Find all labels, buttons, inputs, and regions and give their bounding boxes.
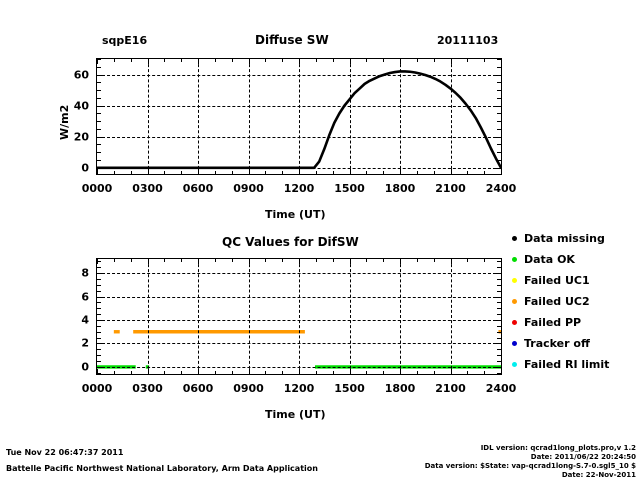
legend-item-data-ok: Data OK	[512, 249, 638, 270]
footer-idl-date: Date: 2011/06/22 20:24:50	[531, 453, 636, 461]
footer-organization: Battelle Pacific Northwest National Labo…	[6, 464, 318, 473]
legend-item-label: Failed UC2	[524, 295, 590, 308]
axis-tick-minor	[484, 171, 485, 174]
axis-tick-minor	[333, 59, 334, 62]
x-tick-label: 1500	[334, 382, 365, 395]
axis-tick-minor	[366, 171, 367, 174]
axis-tick-minor	[232, 371, 233, 374]
footer-data-date: Date: 22-Nov-2011	[562, 471, 636, 479]
axis-tick-minor	[97, 144, 101, 145]
footer-data-version: Data version: $State: vap-qcrad1long-S.7…	[425, 462, 636, 470]
legend-item-label: Tracker off	[524, 337, 590, 350]
gridline-vertical	[249, 259, 250, 374]
axis-tick-minor	[497, 373, 501, 374]
axis-tick-minor	[97, 90, 101, 91]
axis-tick	[249, 59, 250, 64]
axis-tick-minor	[164, 371, 165, 374]
axis-tick-minor	[97, 291, 101, 292]
gridline-vertical	[451, 259, 452, 374]
legend-item-failed-uc2: Failed UC2	[512, 291, 638, 312]
axis-tick	[148, 59, 149, 64]
x-tick-label: 2400	[486, 382, 517, 395]
x-tick-label: 0000	[82, 382, 113, 395]
legend-item-failed-pp: Failed PP	[512, 312, 638, 333]
gridline-horizontal	[97, 75, 501, 76]
axis-tick	[97, 273, 103, 274]
axis-tick	[495, 106, 501, 107]
axis-tick	[249, 169, 250, 174]
axis-tick	[97, 297, 103, 298]
gridline-horizontal	[97, 320, 501, 321]
footer-timestamp: Tue Nov 22 06:47:37 2011	[6, 448, 123, 457]
axis-tick	[495, 320, 501, 321]
axis-tick-minor	[417, 59, 418, 62]
legend-marker-icon	[512, 278, 517, 283]
axis-tick-minor	[97, 82, 101, 83]
axis-tick-minor	[215, 371, 216, 374]
axis-tick-minor	[497, 121, 501, 122]
axis-tick-minor	[434, 371, 435, 374]
axis-tick	[198, 369, 199, 374]
axis-tick-minor	[497, 98, 501, 99]
axis-tick-minor	[215, 59, 216, 62]
y-tick-label: 4	[56, 314, 89, 327]
axis-tick-minor	[316, 171, 317, 174]
axis-tick-minor	[164, 171, 165, 174]
axis-tick-minor	[181, 59, 182, 62]
axis-tick-minor	[97, 113, 101, 114]
top-ylabel: W/m2	[58, 105, 71, 140]
footer-idl-version: IDL version: qcrad1long_plots.pro,v 1.2	[481, 444, 636, 452]
axis-tick	[148, 259, 149, 264]
axis-tick	[97, 343, 103, 344]
axis-tick-minor	[97, 373, 101, 374]
axis-tick-minor	[164, 259, 165, 262]
axis-tick	[451, 369, 452, 374]
axis-tick-minor	[434, 171, 435, 174]
date-code-label: 20111103	[437, 35, 498, 46]
gridline-horizontal	[97, 168, 501, 169]
axis-tick-minor	[497, 308, 501, 309]
legend-marker-icon	[512, 257, 517, 262]
axis-tick-minor	[97, 160, 101, 161]
axis-tick-minor	[497, 291, 501, 292]
axis-tick-minor	[497, 144, 501, 145]
axis-tick	[400, 259, 401, 264]
axis-tick-minor	[366, 259, 367, 262]
gridline-horizontal	[97, 297, 501, 298]
legend-marker-icon	[512, 236, 517, 241]
axis-tick-minor	[497, 152, 501, 153]
axis-tick-minor	[497, 285, 501, 286]
axis-tick	[299, 169, 300, 174]
axis-tick-minor	[97, 152, 101, 153]
legend-marker-icon	[512, 320, 517, 325]
y-tick-label: 0	[56, 360, 89, 373]
axis-tick-minor	[497, 279, 501, 280]
axis-tick-minor	[333, 171, 334, 174]
gridline-vertical	[400, 59, 401, 174]
gridline-vertical	[350, 59, 351, 174]
qc-legend: Data missingData OKFailed UC1Failed UC2F…	[512, 228, 638, 375]
axis-tick	[97, 137, 103, 138]
axis-tick-minor	[282, 259, 283, 262]
x-tick-label: 0000	[82, 182, 113, 195]
axis-tick	[400, 59, 401, 64]
qc-plot-title: QC Values for DifSW	[222, 235, 359, 249]
axis-tick	[350, 369, 351, 374]
axis-tick-minor	[467, 59, 468, 62]
axis-tick-minor	[497, 302, 501, 303]
axis-tick-minor	[497, 113, 501, 114]
top-xlabel: Time (UT)	[265, 208, 326, 221]
axis-tick-minor	[484, 259, 485, 262]
legend-item-label: Failed RI limit	[524, 358, 609, 371]
axis-tick-minor	[97, 129, 101, 130]
axis-tick	[198, 259, 199, 264]
legend-item-failed-ri-limit: Failed RI limit	[512, 354, 638, 375]
axis-tick-minor	[497, 361, 501, 362]
axis-tick	[495, 273, 501, 274]
top-plot-title: Diffuse SW	[255, 33, 329, 47]
axis-tick	[97, 367, 103, 368]
legend-item-label: Failed PP	[524, 316, 581, 329]
axis-tick-minor	[467, 259, 468, 262]
axis-tick-minor	[497, 267, 501, 268]
axis-tick-minor	[97, 285, 101, 286]
x-tick-label: 2100	[435, 382, 466, 395]
x-tick-label: 2400	[486, 182, 517, 195]
gridline-horizontal	[97, 367, 501, 368]
axis-tick-minor	[131, 171, 132, 174]
axis-tick-minor	[316, 259, 317, 262]
axis-tick-minor	[97, 349, 101, 350]
axis-tick-minor	[97, 326, 101, 327]
legend-item-label: Failed UC1	[524, 274, 590, 287]
axis-tick-minor	[316, 371, 317, 374]
x-tick-label: 0900	[233, 182, 264, 195]
x-tick-label: 1800	[385, 382, 416, 395]
axis-tick	[400, 369, 401, 374]
diffuse-sw-plot-area	[97, 59, 501, 174]
axis-tick-minor	[97, 261, 101, 262]
axis-tick-minor	[417, 371, 418, 374]
axis-tick-minor	[417, 259, 418, 262]
axis-tick	[451, 59, 452, 64]
axis-tick-minor	[97, 98, 101, 99]
gridline-vertical	[299, 259, 300, 374]
axis-tick	[97, 75, 103, 76]
axis-tick-minor	[97, 267, 101, 268]
x-tick-label: 0600	[183, 182, 214, 195]
axis-tick-minor	[497, 326, 501, 327]
x-tick-label: 0600	[183, 382, 214, 395]
axis-tick	[97, 106, 103, 107]
axis-tick-minor	[265, 171, 266, 174]
axis-tick-minor	[497, 355, 501, 356]
gridline-horizontal	[97, 343, 501, 344]
legend-marker-icon	[512, 341, 517, 346]
axis-tick-minor	[265, 59, 266, 62]
x-tick-label: 1200	[284, 382, 315, 395]
gridline-vertical	[299, 59, 300, 174]
axis-tick	[299, 59, 300, 64]
axis-tick-minor	[232, 171, 233, 174]
axis-tick-minor	[366, 371, 367, 374]
x-tick-label: 0300	[132, 382, 163, 395]
axis-tick-minor	[97, 361, 101, 362]
axis-tick-minor	[434, 259, 435, 262]
axis-tick-minor	[417, 171, 418, 174]
axis-tick	[97, 320, 103, 321]
axis-tick-minor	[282, 59, 283, 62]
axis-tick-minor	[97, 59, 101, 60]
legend-item-label: Data OK	[524, 253, 575, 266]
x-tick-label: 0900	[233, 382, 264, 395]
axis-tick-minor	[383, 171, 384, 174]
axis-tick-minor	[316, 59, 317, 62]
legend-marker-icon	[512, 299, 517, 304]
x-tick-label: 1200	[284, 182, 315, 195]
diffuse-sw-plot	[96, 58, 502, 175]
legend-marker-icon	[512, 362, 517, 367]
axis-tick-minor	[131, 59, 132, 62]
y-tick-label: 60	[56, 68, 89, 81]
x-tick-label: 2100	[435, 182, 466, 195]
gridline-vertical	[350, 259, 351, 374]
gridline-vertical	[451, 59, 452, 174]
axis-tick-minor	[97, 355, 101, 356]
axis-tick	[495, 297, 501, 298]
axis-tick	[350, 59, 351, 64]
y-tick-label: 8	[56, 267, 89, 280]
legend-item-label: Data missing	[524, 232, 605, 245]
axis-tick-minor	[282, 171, 283, 174]
axis-tick-minor	[215, 171, 216, 174]
legend-item-tracker-off: Tracker off	[512, 333, 638, 354]
axis-tick-minor	[497, 332, 501, 333]
axis-tick	[97, 168, 103, 169]
qc-values-plot	[96, 258, 502, 375]
axis-tick	[249, 259, 250, 264]
axis-tick-minor	[467, 171, 468, 174]
gridline-vertical	[148, 259, 149, 374]
legend-item-failed-uc1: Failed UC1	[512, 270, 638, 291]
qc-xlabel: Time (UT)	[265, 408, 326, 421]
axis-tick	[97, 169, 98, 174]
axis-tick-minor	[282, 371, 283, 374]
x-tick-label: 1800	[385, 182, 416, 195]
axis-tick-minor	[484, 59, 485, 62]
gridline-vertical	[148, 59, 149, 174]
axis-tick	[451, 259, 452, 264]
axis-tick	[495, 343, 501, 344]
plot-page: sqpE16 Diffuse SW 20111103 0000030006000…	[0, 0, 640, 480]
axis-tick-minor	[181, 371, 182, 374]
axis-tick	[400, 169, 401, 174]
axis-tick-minor	[265, 259, 266, 262]
axis-tick	[495, 168, 501, 169]
axis-tick	[148, 369, 149, 374]
axis-tick	[350, 169, 351, 174]
axis-tick-minor	[497, 261, 501, 262]
axis-tick-minor	[497, 67, 501, 68]
axis-tick-minor	[97, 308, 101, 309]
axis-tick	[495, 75, 501, 76]
y-tick-label: 2	[56, 337, 89, 350]
axis-tick-minor	[497, 338, 501, 339]
axis-tick-minor	[97, 67, 101, 68]
site-id-label: sqpE16	[102, 35, 147, 46]
axis-tick-minor	[497, 160, 501, 161]
axis-tick-minor	[97, 314, 101, 315]
axis-tick-minor	[497, 314, 501, 315]
axis-tick-minor	[383, 59, 384, 62]
axis-tick-minor	[366, 59, 367, 62]
gridline-horizontal	[97, 273, 501, 274]
axis-tick-minor	[383, 259, 384, 262]
gridline-vertical	[198, 259, 199, 374]
axis-tick-minor	[383, 371, 384, 374]
axis-tick-minor	[114, 371, 115, 374]
axis-tick-minor	[232, 59, 233, 62]
axis-tick-minor	[97, 121, 101, 122]
axis-tick-minor	[497, 90, 501, 91]
axis-tick-minor	[232, 259, 233, 262]
gridline-vertical	[400, 259, 401, 374]
qc-values-plot-area	[97, 259, 501, 374]
axis-tick-minor	[97, 332, 101, 333]
axis-tick	[299, 259, 300, 264]
gridline-vertical	[198, 59, 199, 174]
axis-tick-minor	[97, 302, 101, 303]
y-tick-label: 6	[56, 290, 89, 303]
axis-tick-minor	[265, 371, 266, 374]
axis-tick-minor	[114, 171, 115, 174]
axis-tick-minor	[181, 259, 182, 262]
axis-tick-minor	[114, 59, 115, 62]
axis-tick	[249, 369, 250, 374]
axis-tick-minor	[467, 371, 468, 374]
axis-tick-minor	[497, 349, 501, 350]
axis-tick	[148, 169, 149, 174]
axis-tick-minor	[131, 371, 132, 374]
gridline-vertical	[249, 59, 250, 174]
axis-tick-minor	[434, 59, 435, 62]
axis-tick-minor	[131, 259, 132, 262]
x-tick-label: 0300	[132, 182, 163, 195]
y-tick-label: 0	[56, 161, 89, 174]
axis-tick-minor	[215, 259, 216, 262]
axis-tick-minor	[497, 82, 501, 83]
axis-tick	[198, 59, 199, 64]
axis-tick-minor	[497, 59, 501, 60]
gridline-horizontal	[97, 106, 501, 107]
axis-tick-minor	[164, 59, 165, 62]
axis-tick	[198, 169, 199, 174]
x-tick-label: 1500	[334, 182, 365, 195]
axis-tick	[495, 137, 501, 138]
axis-tick-minor	[114, 259, 115, 262]
axis-tick-minor	[333, 371, 334, 374]
axis-tick-minor	[484, 371, 485, 374]
axis-tick	[299, 369, 300, 374]
axis-tick-minor	[97, 338, 101, 339]
axis-tick-minor	[333, 259, 334, 262]
axis-tick	[451, 169, 452, 174]
gridline-horizontal	[97, 137, 501, 138]
axis-tick-minor	[97, 279, 101, 280]
axis-tick	[495, 367, 501, 368]
axis-tick-minor	[497, 129, 501, 130]
axis-tick	[350, 259, 351, 264]
axis-tick-minor	[181, 171, 182, 174]
legend-item-data-missing: Data missing	[512, 228, 638, 249]
